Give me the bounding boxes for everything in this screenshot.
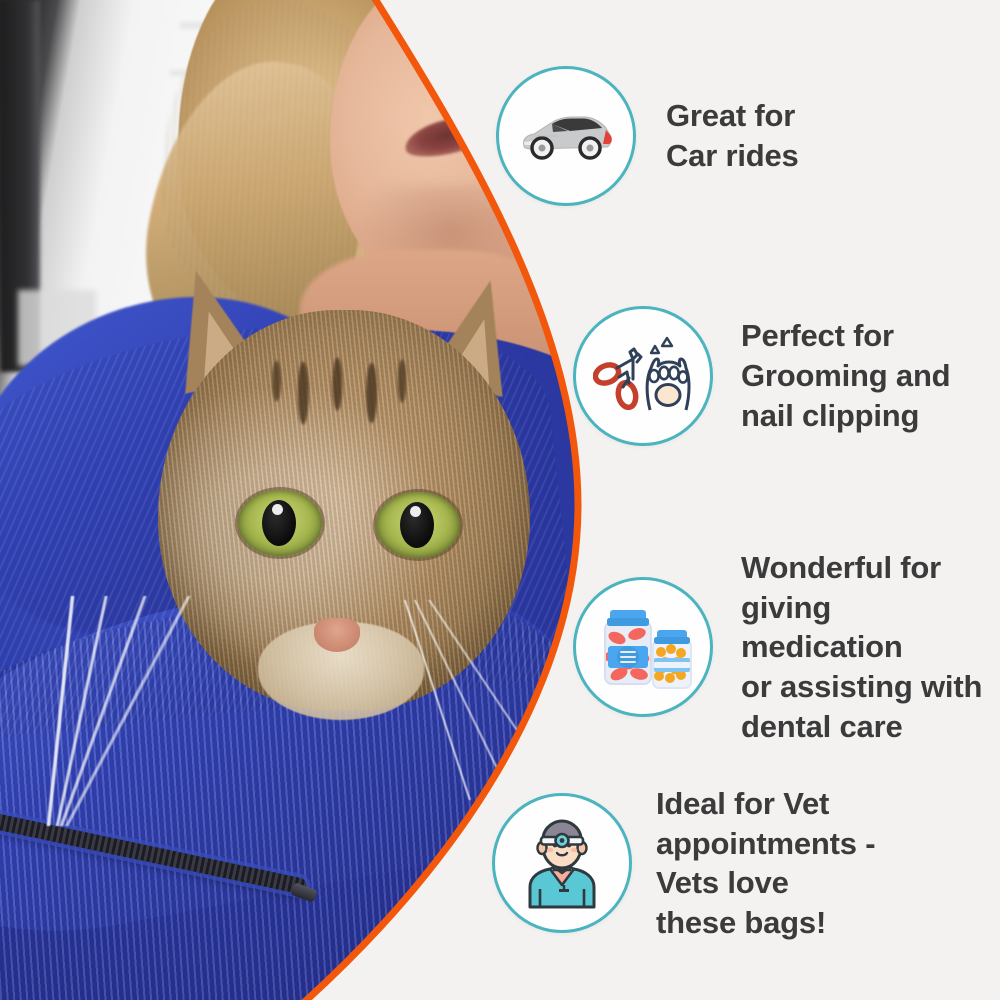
car-icon — [518, 106, 614, 166]
feature-label-medication: Wonderful for giving medication or assis… — [741, 548, 1000, 746]
feature-label-car-rides: Great for Car rides — [666, 96, 799, 175]
feature-row-grooming: Perfect for Grooming and nail clipping — [573, 306, 950, 446]
feature-icon-circle — [492, 793, 632, 933]
feature-label-vet: Ideal for Vet appointments - Vets love t… — [656, 784, 875, 943]
veterinarian-icon — [514, 815, 610, 911]
feature-row-car-rides: Great for Car rides — [496, 66, 799, 206]
feature-label-grooming: Perfect for Grooming and nail clipping — [741, 316, 950, 435]
feature-icon-circle — [573, 577, 713, 717]
nail-clipper-paw-icon — [593, 332, 693, 420]
feature-row-vet: Ideal for Vet appointments - Vets love t… — [492, 784, 875, 943]
feature-icon-circle — [496, 66, 636, 206]
feature-row-medication: Wonderful for giving medication or assis… — [573, 548, 1000, 746]
infographic-canvas: Great for Car rides — [0, 0, 1000, 1000]
pill-bottles-icon — [591, 600, 695, 694]
feature-icon-circle — [573, 306, 713, 446]
